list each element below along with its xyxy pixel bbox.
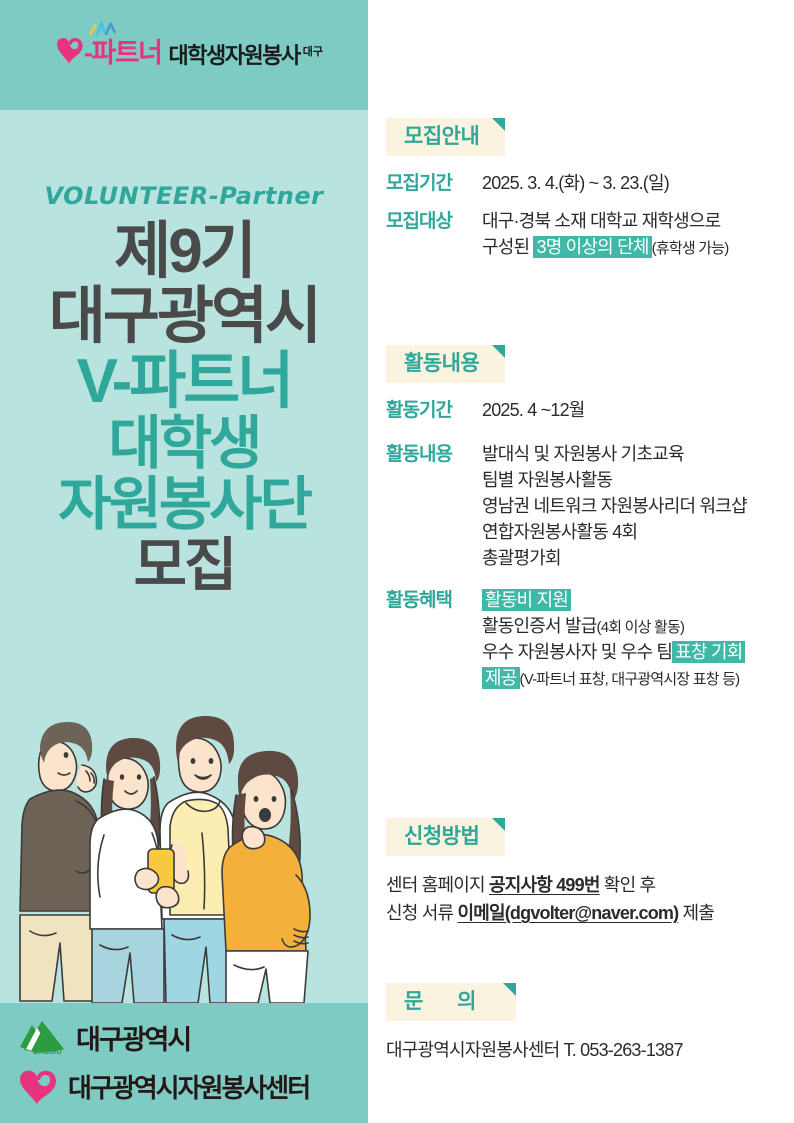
target-line-2-note: (휴학생 가능): [652, 240, 729, 257]
activity-item: 발대식 및 자원봉사 기초교육: [482, 441, 784, 467]
section-tab-apply-label: 신청방법: [404, 825, 479, 848]
section-tab-apply: 신청방법: [386, 818, 505, 856]
benefit-highlight-1: 활동비 지원: [482, 589, 571, 611]
poster-title: 제9기 대구광역시 V-파트너 대학생 자원봉사단 모집: [0, 222, 368, 595]
row-activity-period: 활동기간 2025. 4 ~12월: [386, 397, 784, 425]
apply-email-link[interactable]: 이메일(dgvolter@naver.com): [457, 903, 678, 923]
section-tab-inquiry-label: 문 의: [404, 990, 490, 1013]
volunteer-center-logo-row: 대구광역시자원봉사센터: [16, 1065, 309, 1110]
title-line-5: 자원봉사단: [0, 477, 368, 534]
tab-corner-icon: [503, 983, 516, 996]
vpartner-wordmark: -파트너: [84, 40, 162, 67]
label-activity-content: 활동내용: [386, 441, 482, 469]
row-recruit-target: 모집대상 대구·경북 소재 대학교 재학생으로 구성된 3명 이상의 단체(휴학…: [386, 208, 784, 260]
daegu-city-mountain-logo: DAEGU: [16, 1019, 68, 1062]
section-tab-inquiry: 문 의: [386, 983, 516, 1021]
apply-line-2-post: 제출: [678, 903, 714, 923]
title-line-6: 모집: [0, 538, 368, 595]
right-content-column: 모집안내 모집기간 2025. 3. 4.(화) ~ 3. 23.(일) 모집대…: [368, 0, 794, 1123]
benefit-line-2-note: (4회 이상 활동): [597, 619, 685, 636]
apply-notice-link[interactable]: 공지사항 499번: [489, 875, 600, 895]
label-activity-benefit: 활동혜택: [386, 587, 482, 615]
benefit-line-2-main: 활동인증서 발급: [482, 616, 597, 636]
section-tab-recruit: 모집안내: [386, 118, 505, 156]
vpartner-region: 대구: [303, 47, 323, 58]
value-activity-benefit: 활동비 지원 활동인증서 발급(4회 이상 활동) 우수 자원봉사자 및 우수 …: [482, 587, 784, 691]
title-line-1: 제9기: [0, 222, 368, 283]
daegu-city-logo-row: DAEGU 대구광역시: [16, 1019, 190, 1062]
activity-item: 팀별 자원봉사활동: [482, 467, 784, 493]
footer-logo-band: DAEGU 대구광역시 대구광역시자원봉사센터: [0, 1003, 368, 1123]
svg-text:DAEGU: DAEGU: [33, 1047, 62, 1056]
vpartner-logo: -파트너 대학생자원봉사 대구: [52, 32, 323, 67]
benefit-highlight-3: 제공: [482, 667, 520, 689]
section-inquiry-body: 대구광역시자원봉사센터 T. 053-263-1387: [386, 1037, 794, 1065]
apply-line-2: 신청 서류 이메일(dgvolter@naver.com) 제출: [386, 900, 794, 928]
tab-corner-icon: [492, 818, 505, 831]
row-activity-content: 활동내용 발대식 및 자원봉사 기초교육 팀별 자원봉사활동 영남권 네트워크 …: [386, 441, 784, 571]
benefit-line-3-pre: 우수 자원봉사자 및 우수 팀: [482, 642, 672, 662]
section-activity: 활동내용 활동기간 2025. 4 ~12월 활동내용 발대식 및 자원봉사 기…: [368, 345, 794, 702]
daegu-city-logo-text: 대구광역시: [76, 1027, 190, 1054]
section-tab-activity: 활동내용: [386, 345, 505, 383]
activity-item: 영남권 네트워크 자원봉사리더 워크샵: [482, 493, 784, 519]
label-recruit-target: 모집대상: [386, 208, 482, 236]
target-line-2-pre: 구성된: [482, 237, 533, 257]
section-activity-body: 활동기간 2025. 4 ~12월 활동내용 발대식 및 자원봉사 기초교육 팀…: [386, 397, 794, 691]
title-line-3: V-파트너: [0, 352, 368, 413]
title-line-4: 대학생: [0, 416, 368, 473]
vpartner-subtitle: 대학생자원봉사: [169, 45, 300, 67]
tab-corner-icon: [492, 118, 505, 131]
four-students-looking-at-phone-illustration: .ln { fill:none; stroke:#3b3b3b; stroke-…: [0, 703, 368, 1003]
left-title-panel: VOLUNTEER-Partner 제9기 대구광역시 V-파트너 대학생 자원…: [0, 110, 368, 1003]
activity-item: 총괄평가회: [482, 545, 784, 571]
apply-line-1-post: 확인 후: [600, 875, 656, 895]
tab-corner-icon: [492, 345, 505, 358]
section-recruit-body: 모집기간 2025. 3. 4.(화) ~ 3. 23.(일) 모집대상 대구·…: [386, 170, 794, 260]
target-highlight: 3명 이상의 단체: [533, 236, 651, 258]
section-tab-recruit-label: 모집안내: [404, 125, 479, 148]
value-activity-content: 발대식 및 자원봉사 기초교육 팀별 자원봉사활동 영남권 네트워크 자원봉사리…: [482, 441, 784, 571]
eyebrow-text: VOLUNTEER-Partner: [0, 182, 368, 210]
benefit-line-4: 제공(V-파트너 표창, 대구광역시장 표창 등): [482, 665, 784, 691]
value-activity-period: 2025. 4 ~12월: [482, 397, 784, 423]
section-tab-activity-label: 활동내용: [404, 352, 479, 375]
target-line-1: 대구·경북 소재 대학교 재학생으로: [482, 208, 784, 234]
header-band: -파트너 대학생자원봉사 대구: [0, 0, 368, 110]
heart-v-icon: [52, 32, 86, 66]
section-inquiry: 문 의 대구광역시자원봉사센터 T. 053-263-1387: [368, 983, 794, 1065]
poster-root: -파트너 대학생자원봉사 대구 온기나눔대구 하나되는 더 따뜻한 대한민국 V…: [0, 0, 794, 1123]
apply-line-1-pre: 센터 홈페이지: [386, 875, 489, 895]
benefit-line-3: 우수 자원봉사자 및 우수 팀표창 기회: [482, 639, 784, 665]
volunteer-center-logo-text: 대구광역시자원봉사센터: [68, 1075, 309, 1101]
target-line-2: 구성된 3명 이상의 단체(휴학생 가능): [482, 234, 784, 260]
sparkle-icon: [88, 20, 118, 39]
section-apply: 신청방법 센터 홈페이지 공지사항 499번 확인 후 신청 서류 이메일(dg…: [368, 818, 794, 928]
section-apply-body: 센터 홈페이지 공지사항 499번 확인 후 신청 서류 이메일(dgvolte…: [386, 872, 794, 928]
row-activity-benefit: 활동혜택 활동비 지원 활동인증서 발급(4회 이상 활동) 우수 자원봉사자 …: [386, 587, 784, 691]
label-activity-period: 활동기간: [386, 397, 482, 425]
apply-line-1: 센터 홈페이지 공지사항 499번 확인 후: [386, 872, 794, 900]
apply-line-2-pre: 신청 서류: [386, 903, 457, 923]
benefit-highlight-2: 표창 기회: [672, 641, 745, 663]
value-recruit-period: 2025. 3. 4.(화) ~ 3. 23.(일): [482, 170, 784, 196]
benefit-line-2: 활동인증서 발급(4회 이상 활동): [482, 613, 784, 639]
benefit-line-1: 활동비 지원: [482, 587, 784, 613]
label-recruit-period: 모집기간: [386, 170, 482, 198]
value-recruit-target: 대구·경북 소재 대학교 재학생으로 구성된 3명 이상의 단체(휴학생 가능): [482, 208, 784, 260]
row-recruit-period: 모집기간 2025. 3. 4.(화) ~ 3. 23.(일): [386, 170, 784, 198]
volunteer-center-heart-logo: [16, 1065, 60, 1110]
title-line-2: 대구광역시: [0, 287, 368, 348]
inquiry-contact: 대구광역시자원봉사센터 T. 053-263-1387: [386, 1037, 794, 1065]
activity-item: 연합자원봉사활동 4회: [482, 519, 784, 545]
section-recruit-info: 모집안내 모집기간 2025. 3. 4.(화) ~ 3. 23.(일) 모집대…: [368, 118, 794, 270]
benefit-line-4-note: (V-파트너 표창, 대구광역시장 표창 등): [520, 671, 740, 688]
